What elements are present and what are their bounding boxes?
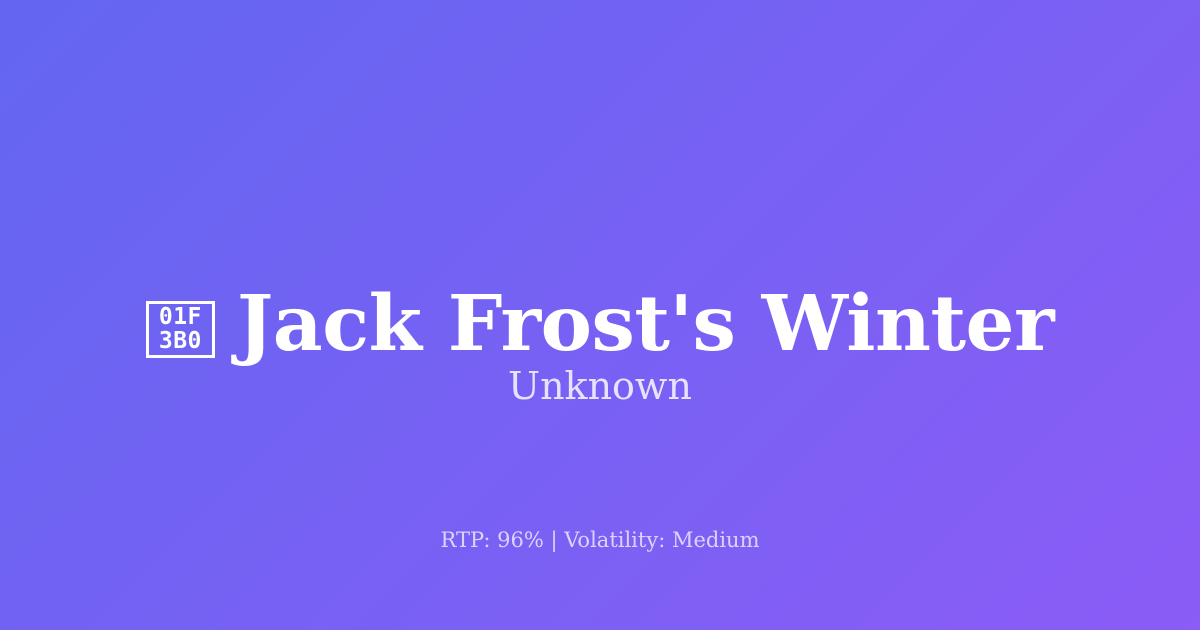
game-stats: RTP: 96% | Volatility: Medium [0, 527, 1200, 554]
provider-label: Unknown [0, 364, 1200, 410]
tofu-codepoint-bottom: 3B0 [159, 329, 202, 353]
slot-machine-icon: 01F 3B0 [146, 286, 215, 362]
game-og-card: 01F 3B0 Jack Frost's Winter Unknown RTP:… [0, 0, 1200, 630]
page-title: Jack Frost's Winter [237, 284, 1054, 365]
tofu-glyph-box: 01F 3B0 [146, 301, 215, 358]
tofu-codepoint-top: 01F [159, 305, 202, 329]
